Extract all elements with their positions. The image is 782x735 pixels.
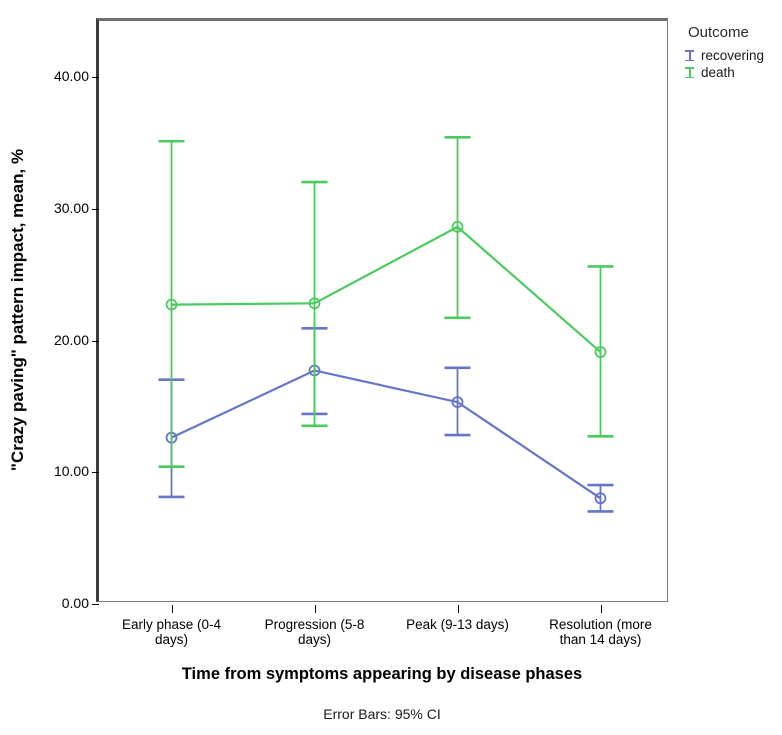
x-axis-tick-label: Resolution (morethan 14 days)	[531, 617, 671, 647]
legend-item-label: recovering	[701, 48, 764, 63]
error-bar-icon	[684, 66, 696, 79]
legend-item-recovering[interactable]: recovering	[684, 47, 782, 64]
x-axis-tick-label: Early phase (0-4days)	[102, 617, 242, 647]
series-line	[172, 370, 601, 498]
x-axis-tick-label: Peak (9-13 days)	[388, 617, 528, 632]
y-axis-tick-label: 0.00	[62, 595, 89, 611]
y-axis-tick-mark	[92, 209, 99, 210]
y-axis-tick-label: 20.00	[54, 332, 89, 348]
y-axis-tick-label: 40.00	[54, 68, 89, 84]
x-axis-tick-mark	[601, 605, 602, 613]
legend-item-label: death	[701, 65, 735, 80]
x-axis-tick-label-line: Resolution (more	[531, 617, 671, 632]
series-line	[172, 227, 601, 352]
x-axis-tick-mark	[458, 605, 459, 613]
error-bar-caption: Error Bars: 95% CI	[96, 706, 668, 722]
plot-area: 40.0030.0020.0010.000.00Early phase (0-4…	[96, 18, 668, 602]
y-axis-tick-label: 30.00	[54, 200, 89, 216]
error-bar-icon	[684, 49, 696, 62]
chart-page: "Crazy paving" pattern impact, mean, % 4…	[0, 0, 782, 735]
x-axis-tick-label-line: than 14 days)	[531, 632, 671, 647]
legend-title: Outcome	[684, 24, 782, 41]
series-recovering	[159, 328, 614, 511]
series-death	[159, 137, 614, 466]
legend-items: recoveringdeath	[684, 47, 782, 81]
x-axis-tick-label-line: Progression (5-8	[245, 617, 385, 632]
legend-item-death[interactable]: death	[684, 64, 782, 81]
x-axis-tick-mark	[172, 605, 173, 613]
legend: Outcome recoveringdeath	[684, 24, 782, 81]
y-axis-tick-mark	[92, 341, 99, 342]
x-axis-tick-label-line: days)	[245, 632, 385, 647]
x-axis-tick-label: Progression (5-8days)	[245, 617, 385, 647]
y-axis-title-container: "Crazy paving" pattern impact, mean, %	[0, 18, 36, 602]
x-axis-tick-label-line: Early phase (0-4	[102, 617, 242, 632]
x-axis-title: Time from symptoms appearing by disease …	[96, 665, 668, 684]
x-axis-tick-mark	[315, 605, 316, 613]
y-axis-tick-mark	[92, 472, 99, 473]
y-axis-title: "Crazy paving" pattern impact, mean, %	[8, 149, 28, 471]
x-axis-tick-label-line: Peak (9-13 days)	[388, 617, 528, 632]
y-axis-tick-label: 10.00	[54, 463, 89, 479]
series-layer	[99, 21, 671, 605]
y-axis-tick-mark	[92, 77, 99, 78]
x-axis-tick-label-line: days)	[102, 632, 242, 647]
y-axis-tick-mark	[92, 604, 99, 605]
